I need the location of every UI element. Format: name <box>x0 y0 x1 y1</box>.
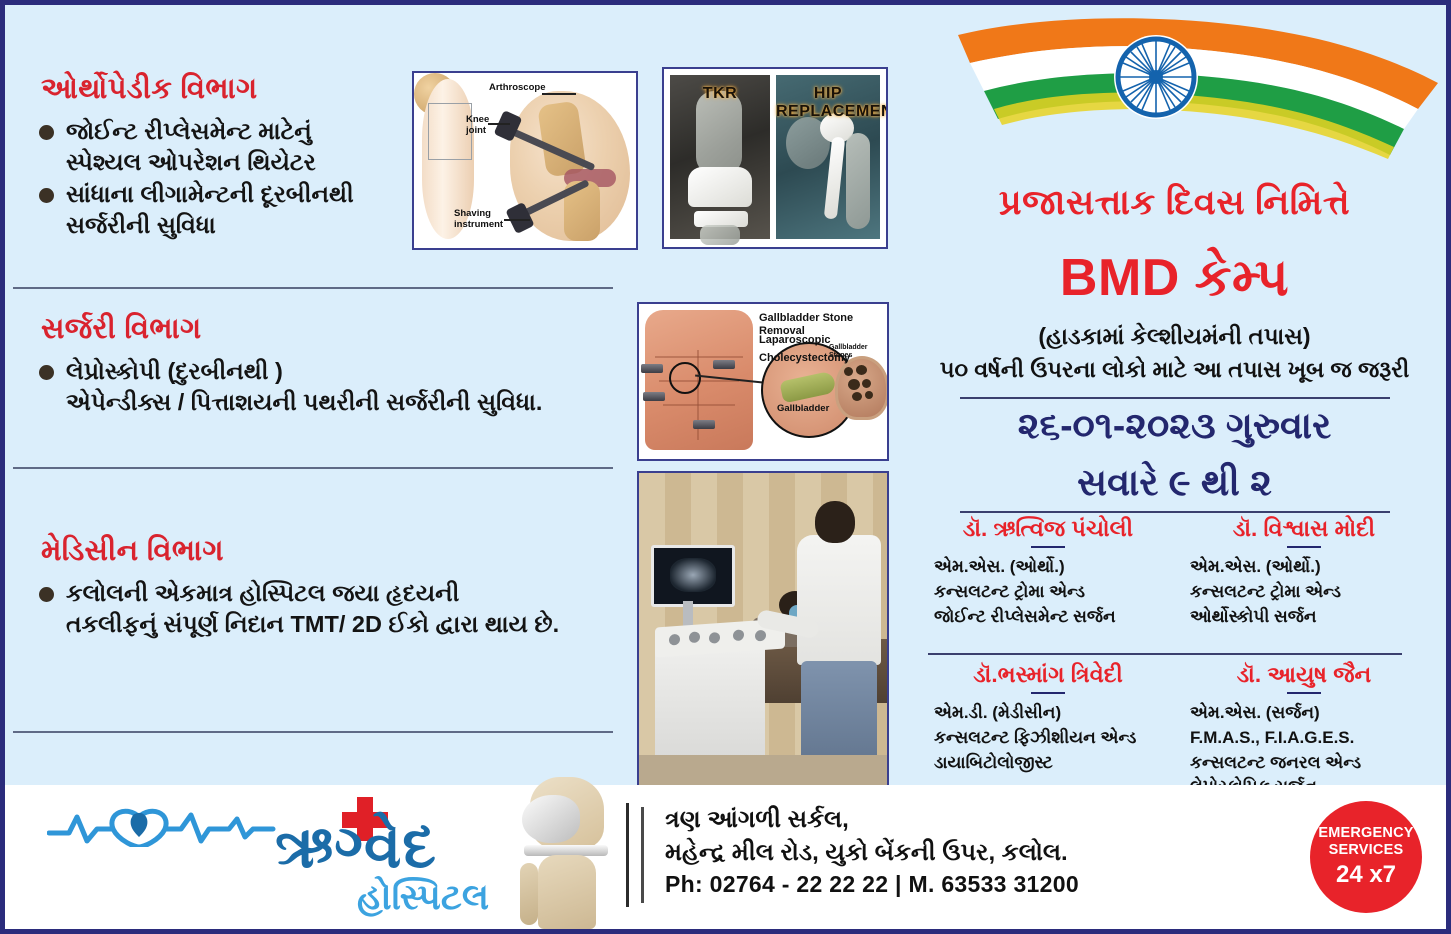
doctor-qualification: કન્સલટન્ટ ફિઝીશીયન એન્ડ <box>928 726 1168 751</box>
doctor-qualification: ઓર્થોસ્કોપી સર્જન <box>1184 605 1424 630</box>
camp-details-panel: પ્રજાસત્તાક દિવસ નિમિત્તે BMD કેમ્પ (હાડ… <box>898 5 1451 795</box>
section-divider <box>13 467 613 469</box>
knee-implant-femoral-graphic <box>688 167 752 207</box>
doctor-qualification: કન્સલટન્ટ ટ્રોમા એન્ડ <box>1184 580 1424 605</box>
doctors-divider <box>928 653 1402 655</box>
doctor-qualification: એમ.એસ. (ઓર્થો.) <box>1184 555 1424 580</box>
shaving-instrument-label: Shaving instrument <box>454 209 503 231</box>
bullet-dot-icon <box>39 188 54 203</box>
gallbladder-stones-graphic <box>835 356 889 420</box>
department-bullet-text: સાંધાના લીગામેન્ટની દૂરબીનથી સર્જરીની સુ… <box>66 179 354 240</box>
address-line-2: મહેન્દ્ર મીલ રોડ, યુકો બેંકની ઉપર, કલોલ. <box>665 836 1079 869</box>
doctor-name-rule <box>1031 546 1065 549</box>
department-title: ઓર્થોપેડીક વિભાગ <box>41 73 354 106</box>
hospital-type: હોસ્પિટલ <box>357 879 489 915</box>
joint-replacement-xray-pair: TKR HIP REPLACEMENT <box>662 67 888 249</box>
trocar-icon <box>713 360 735 369</box>
doctor-qualification: કન્સલટન્ટ જનરલ એન્ડ <box>1184 751 1424 776</box>
doctor-name-rule <box>1287 546 1321 549</box>
gallbladder-zoom-marker <box>669 362 701 394</box>
camp-occasion: પ્રજાસત્તાક દિવસ નિમિત્તે <box>898 183 1451 223</box>
doctor-qualification: F.M.A.S., F.I.A.G.E.S. <box>1184 726 1424 751</box>
arthroscopy-illustration: Arthroscope Knee joint Shaving instrumen… <box>412 71 638 250</box>
doctor-qualification: જોઈન્ટ રીપ્લેસમેન્ટ સર્જન <box>928 605 1168 630</box>
echo-image-graphic <box>670 558 716 592</box>
doctor-qualification: એમ.એસ. (ઓર્થો.) <box>928 555 1168 580</box>
hospital-logo: ઋગ્વેદ હોસ્પિટલ <box>39 791 479 927</box>
emergency-line-2: SERVICES <box>1329 842 1404 858</box>
department-title: મેડિસીન વિભાગ <box>41 535 559 568</box>
gallbladder-label: Gallbladder <box>777 404 829 415</box>
doctor-name: ડૉ. વિશ્વાસ મોદી <box>1184 517 1424 542</box>
hip-replacement-caption: HIP REPLACEMENT <box>776 85 880 121</box>
echo-monitor-graphic <box>651 545 735 607</box>
doctor-name-rule <box>1031 692 1065 695</box>
label-leader-line <box>488 123 510 125</box>
department-bullet: લેપ્રોસ્કોપી (દુરબીનથી ) એપેન્ડીક્સ / પિ… <box>39 356 542 417</box>
section-divider <box>13 731 613 733</box>
doctor-name-rule <box>1287 692 1321 695</box>
bullet-dot-icon <box>39 587 54 602</box>
doctor-qualification: કન્સલટન્ટ ટ્રોમા એન્ડ <box>928 580 1168 605</box>
emergency-line-1: EMERGENCY <box>1318 825 1413 841</box>
department-medicine: મેડિસીન વિભાગ કલોલની એકમાત્ર હોસ્પિટલ જય… <box>39 535 559 641</box>
arthroscope-label: Arthroscope <box>489 83 545 94</box>
knee-joint-label: Knee joint <box>466 115 489 137</box>
department-bullet: સાંધાના લીગામેન્ટની દૂરબીનથી સર્જરીની સુ… <box>39 179 354 240</box>
trocar-icon <box>693 420 715 429</box>
camp-name: BMD કેમ્પ <box>898 248 1451 309</box>
footer-bar: ઋગ્વેદ હોસ્પિટલ ત્રણ આંગળી સર્કલ, મહેન્દ… <box>5 785 1446 929</box>
doctor-qualification: ડાયાબિટોલોજીસ્ટ <box>928 751 1168 776</box>
bullet-dot-icon <box>39 365 54 380</box>
department-orthopedic: ઓર્થોપેડીક વિભાગ જોઈન્ટ રીપ્લેસમેન્ટ માટ… <box>39 73 354 243</box>
doctor-card: ડૉ.ભસ્માંગ ત્રિવેદી એમ.ડી. (મેડીસીન) કન્… <box>928 663 1168 775</box>
emergency-line-3: 24 x7 <box>1336 861 1396 889</box>
doctor-name: ડૉ. ઋત્વિજ પંચોલી <box>928 517 1168 542</box>
label-leader-line <box>542 93 576 95</box>
department-bullet-text: લેપ્રોસ્કોપી (દુરબીનથી ) એપેન્ડીક્સ / પિ… <box>66 356 542 417</box>
doctor-qualification: એમ.એસ. (સર્જન) <box>1184 701 1424 726</box>
department-bullet-text: કલોલની એકમાત્ર હોસ્પિટલ જયા હૃદયની તકલીફ… <box>66 578 559 639</box>
department-bullet: કલોલની એકમાત્ર હોસ્પિટલ જયા હૃદયની તકલીફ… <box>39 578 559 639</box>
heartbeat-logo-icon <box>47 807 277 847</box>
department-surgery: સર્જરી વિભાગ લેપ્રોસ્કોપી (દુરબીનથી ) એપ… <box>39 313 542 419</box>
bullet-dot-icon <box>39 125 54 140</box>
hospital-name: ઋગ્વેદ <box>275 817 437 877</box>
laparoscopic-label: Laparoscopic <box>759 334 831 347</box>
department-bullet: જોઈન્ટ રીપ્લેસમેન્ટ માટેનું સ્પેશ્યલ ઓપર… <box>39 116 354 177</box>
trocar-icon <box>641 364 663 373</box>
label-leader-line <box>504 219 530 221</box>
phone-line: Ph: 02764 - 22 22 22 | M. 63533 31200 <box>665 869 1079 901</box>
camp-time: સવારે ૯ થી ૨ <box>898 462 1451 505</box>
echo-procedure-photo <box>637 471 889 793</box>
doctor-name: ડૉ. આયુષ જૈન <box>1184 663 1424 688</box>
panel-divider <box>960 511 1390 513</box>
doctor-head-graphic <box>815 501 855 543</box>
camp-date: ૨૬-૦૧-૨૦૨૩ ગુરુવાર <box>898 405 1451 448</box>
gallbladder-illustration: Gallbladder Gallbladder Stone Removal La… <box>637 302 889 461</box>
gallbladder-organ-graphic <box>779 371 836 404</box>
camp-subtitle: (હાડકામાં કેલ્શીયમંની તપાસ) <box>898 323 1451 350</box>
department-title: સર્જરી વિભાગ <box>41 313 542 346</box>
panel-divider <box>960 397 1390 399</box>
indian-flag-icon <box>898 5 1451 177</box>
hip-replacement-xray: HIP REPLACEMENT <box>776 75 880 239</box>
doctor-card: ડૉ. વિશ્વાસ મોદી એમ.એસ. (ઓર્થો.) કન્સલટન… <box>1184 517 1424 629</box>
emergency-services-badge: EMERGENCY SERVICES 24 x7 <box>1310 801 1422 913</box>
tkr-caption: TKR <box>670 85 770 103</box>
doctor-qualification: એમ.ડી. (મેડીસીન) <box>928 701 1168 726</box>
poster-root: ઓર્થોપેડીક વિભાગ જોઈન્ટ રીપ્લેસમેન્ટ માટ… <box>0 0 1451 934</box>
camp-note: ૫૦ વર્ષની ઉપરના લોકો માટે આ તપાસ ખૂબ જ જ… <box>898 357 1451 383</box>
doctor-body-graphic <box>797 535 881 665</box>
address-divider <box>641 807 644 903</box>
section-divider <box>13 287 613 289</box>
doctor-name: ડૉ.ભસ્માંગ ત્રિવેદી <box>928 663 1168 688</box>
trocar-icon <box>643 392 665 401</box>
tkr-xray: TKR <box>670 75 770 239</box>
address-line-1: ત્રણ આંગળી સર્કલ, <box>665 803 1079 836</box>
department-bullet-text: જોઈન્ટ રીપ્લેસમેન્ટ માટેનું સ્પેશ્યલ ઓપર… <box>66 116 316 177</box>
knee-implant-graphic <box>492 777 642 929</box>
hospital-address: ત્રણ આંગળી સર્કલ, મહેન્દ્ર મીલ રોડ, યુકો… <box>665 803 1079 901</box>
doctor-card: ડૉ. ઋત્વિજ પંચોલી એમ.એસ. (ઓર્થો.) કન્સલટ… <box>928 517 1168 629</box>
gallbladder-stones-label: Gallbladder Stones <box>829 344 887 360</box>
doctor-card: ડૉ. આયુષ જૈન એમ.એસ. (સર્જન) F.M.A.S., F.… <box>1184 663 1424 800</box>
